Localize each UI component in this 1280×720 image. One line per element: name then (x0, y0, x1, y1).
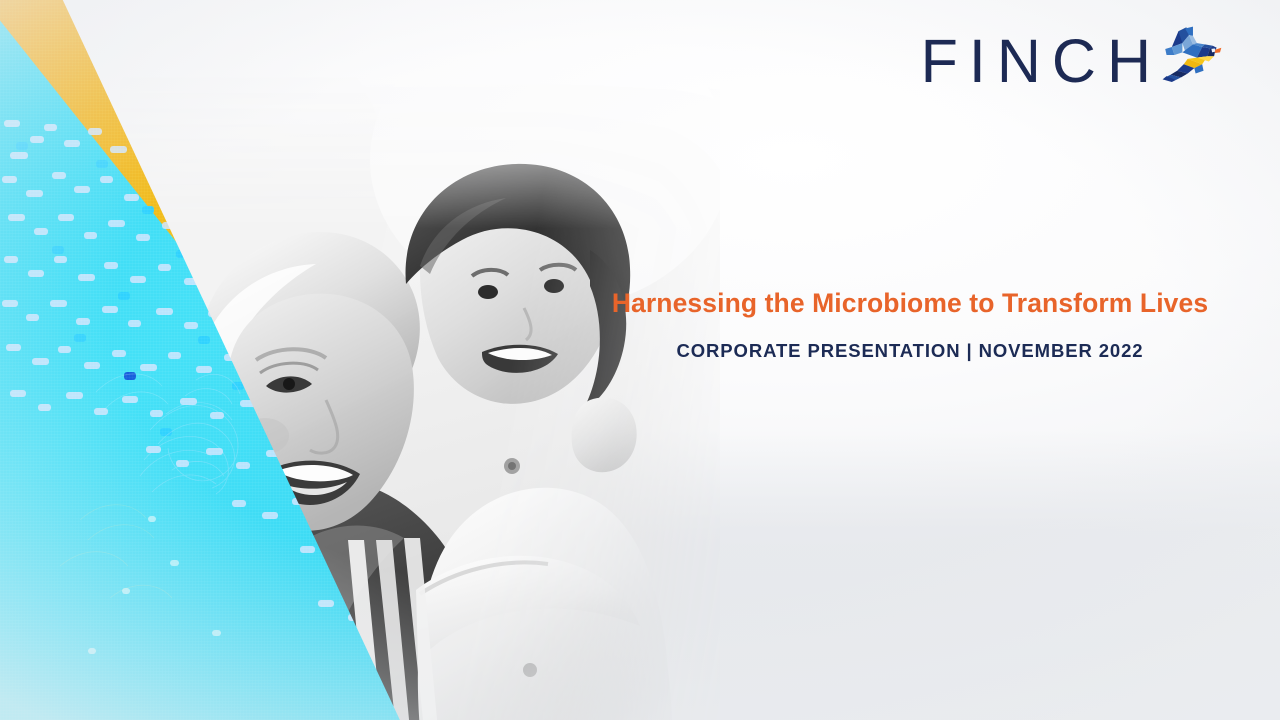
finch-logo[interactable]: FINCH (921, 18, 1222, 96)
title-slide: FINCH (0, 0, 1280, 720)
finch-bird-icon (1156, 18, 1222, 84)
slide-subtitle: CORPORATE PRESENTATION | NOVEMBER 2022 (560, 340, 1260, 362)
finch-wordmark: FINCH (921, 31, 1162, 96)
slide-title: Harnessing the Microbiome to Transform L… (560, 288, 1260, 318)
headline-block: Harnessing the Microbiome to Transform L… (560, 288, 1260, 362)
